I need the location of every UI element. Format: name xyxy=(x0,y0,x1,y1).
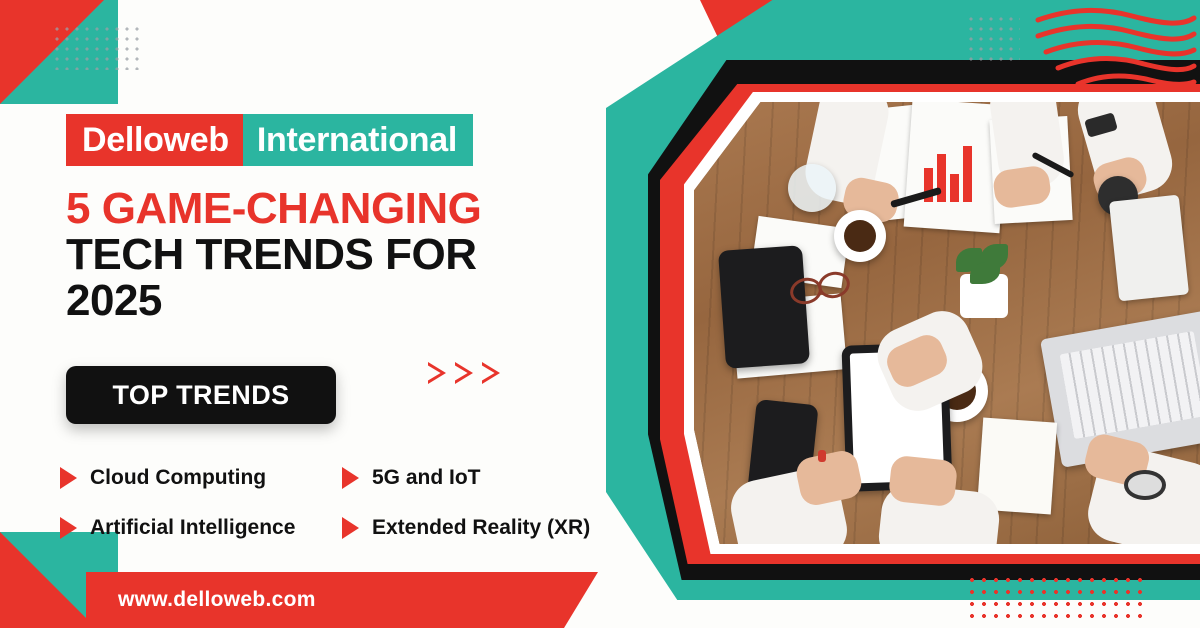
person-hand xyxy=(888,455,958,508)
water-glass xyxy=(788,164,836,212)
headline-line-3: 2025 xyxy=(66,278,606,324)
top-trends-badge: TOP TRENDS xyxy=(66,366,336,424)
triangle-right-icon xyxy=(60,467,77,489)
website-url-bar[interactable]: www.delloweb.com xyxy=(86,572,598,628)
list-item: 5G and IoT xyxy=(342,466,642,490)
dot-grid-top-left xyxy=(52,24,144,70)
trend-row: Cloud Computing 5G and IoT xyxy=(60,466,660,490)
triangle-right-icon xyxy=(342,517,359,539)
list-item: Cloud Computing xyxy=(60,466,342,490)
chevron-right-icon xyxy=(455,362,473,384)
triple-chevron-icon xyxy=(428,362,500,384)
page-title: 5 GAME-CHANGING TECH TRENDS FOR 2025 xyxy=(66,186,606,324)
coffee-liquid xyxy=(844,220,876,252)
top-trends-label: TOP TRENDS xyxy=(112,380,289,411)
photo-team-meeting xyxy=(694,102,1200,544)
chevron-right-icon xyxy=(428,362,446,384)
dot-grid-bottom-right xyxy=(966,574,1146,624)
brand-name-secondary: International xyxy=(243,114,473,166)
dot-grid-top-right xyxy=(966,14,1020,64)
squiggle-decoration xyxy=(1032,6,1198,90)
fingernail xyxy=(818,450,826,462)
brand-lockup: Delloweb International xyxy=(66,114,473,166)
chart-bar xyxy=(937,154,946,202)
trend-list: Cloud Computing 5G and IoT Artificial In… xyxy=(60,466,660,566)
chart-bar xyxy=(950,174,959,202)
calculator xyxy=(1109,195,1189,302)
trend-label: Cloud Computing xyxy=(90,466,266,490)
tablet-device xyxy=(718,245,810,369)
triangle-right-icon xyxy=(342,467,359,489)
trend-row: Artificial Intelligence Extended Reality… xyxy=(60,516,660,540)
poster-canvas: Delloweb International 5 GAME-CHANGING T… xyxy=(0,0,1200,628)
headline-line-1: 5 GAME-CHANGING xyxy=(66,186,606,232)
brand-name-primary: Delloweb xyxy=(66,114,243,166)
list-item: Artificial Intelligence xyxy=(60,516,342,540)
trend-label: Artificial Intelligence xyxy=(90,516,295,540)
website-url: www.delloweb.com xyxy=(118,588,316,612)
headline-line-2: TECH TRENDS FOR xyxy=(66,232,606,278)
trend-label: 5G and IoT xyxy=(372,466,481,490)
chart-bar xyxy=(963,146,972,202)
triangle-right-icon xyxy=(60,517,77,539)
chevron-right-icon xyxy=(482,362,500,384)
trend-label: Extended Reality (XR) xyxy=(372,516,590,540)
wristwatch xyxy=(1124,470,1166,500)
list-item: Extended Reality (XR) xyxy=(342,516,642,540)
